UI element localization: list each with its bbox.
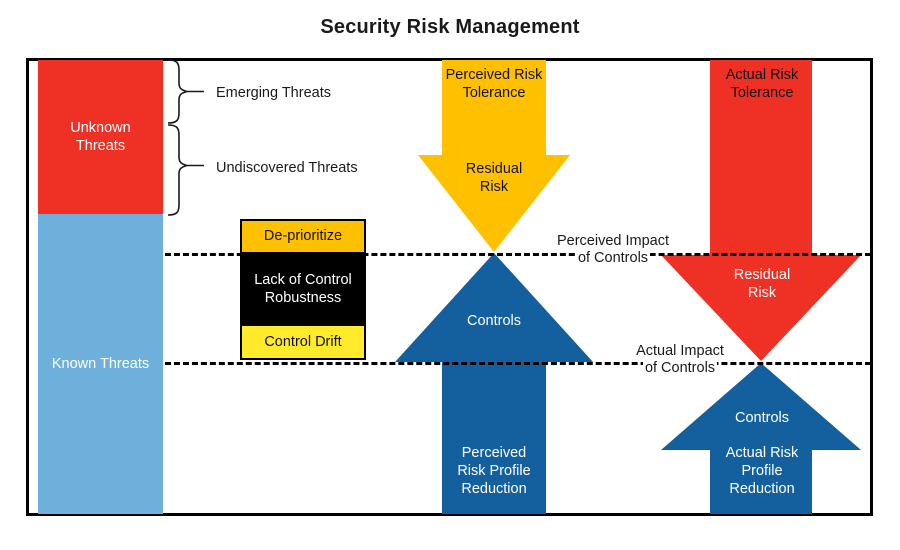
text-perceived-reduction-line1: Perceived [424,444,564,462]
bar-known-threats-label: Known Threats [52,355,149,373]
diagram-canvas: Security Risk Management Unknown Threats… [0,0,900,550]
text-perceived-risk-profile-reduction: Perceived Risk Profile Reduction [424,444,564,498]
label-perceived-impact-line1: Perceived Impact [555,233,671,250]
bar-unknown-threats: Unknown Threats [38,60,163,214]
label-actual-impact-line2: of Controls [643,360,717,377]
dashed-line-actual-impact [165,362,871,365]
text-actual-reduction-line3: Reduction [692,480,832,498]
bar-unknown-threats-line1: Unknown [70,119,130,137]
text-actual-risk-tolerance: Actual Risk Tolerance [692,66,832,102]
text-perceived-controls: Controls [424,312,564,330]
threat-brackets [160,55,224,225]
text-perceived-residual-risk: Residual Risk [424,160,564,196]
text-perceived-residual-risk-line1: Residual [424,160,564,178]
box-control-drift: Control Drift [240,324,366,360]
label-actual-impact-of-controls: Actual Impact of Controls [600,343,760,378]
text-actual-controls-label: Controls [692,409,832,427]
label-undiscovered-threats: Undiscovered Threats [216,160,358,176]
bar-unknown-threats-line2: Threats [70,137,130,155]
text-actual-risk-tolerance-line1: Actual Risk [692,66,832,84]
text-perceived-reduction-line2: Risk Profile [424,462,564,480]
text-actual-residual-risk: Residual Risk [692,266,832,302]
text-actual-reduction-line2: Profile [692,462,832,480]
text-actual-residual-risk-line1: Residual [692,266,832,284]
label-emerging-threats: Emerging Threats [216,85,331,101]
label-perceived-impact-line2: of Controls [576,250,650,267]
box-lack-of-control-robustness-line1: Lack of Control [254,271,352,289]
text-actual-risk-profile-reduction: Actual Risk Profile Reduction [692,444,832,498]
box-de-prioritize-label: De-prioritize [264,227,342,245]
text-perceived-risk-tolerance: Perceived Risk Tolerance [424,66,564,102]
text-actual-controls: Controls [692,409,832,427]
text-perceived-risk-tolerance-line2: Tolerance [424,84,564,102]
box-de-prioritize: De-prioritize [240,219,366,254]
label-actual-impact-line1: Actual Impact [634,343,726,360]
text-actual-reduction-line1: Actual Risk [692,444,832,462]
text-perceived-residual-risk-line2: Risk [424,178,564,196]
box-control-drift-label: Control Drift [264,333,341,351]
box-lack-of-control-robustness: Lack of Control Robustness [240,253,366,325]
bar-known-threats: Known Threats [38,214,163,514]
box-lack-of-control-robustness-line2: Robustness [254,289,352,307]
text-perceived-reduction-line3: Reduction [424,480,564,498]
text-actual-risk-tolerance-line2: Tolerance [692,84,832,102]
text-actual-residual-risk-line2: Risk [692,284,832,302]
page-title: Security Risk Management [0,16,900,39]
text-perceived-risk-tolerance-line1: Perceived Risk [424,66,564,84]
label-perceived-impact-of-controls: Perceived Impact of Controls [523,233,703,268]
text-perceived-controls-label: Controls [424,312,564,330]
